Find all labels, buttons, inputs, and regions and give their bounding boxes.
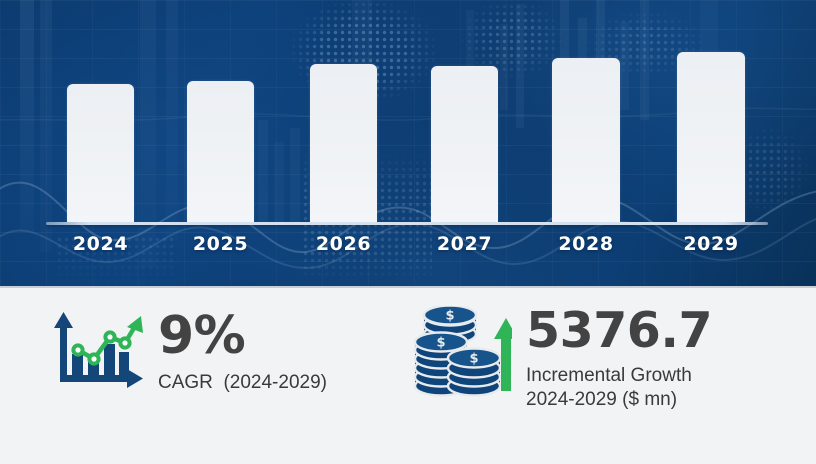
kpi-growth-text: 5376.7 Incremental Growth 2024-2029 ($ m… — [526, 306, 712, 413]
bar-chart-panel: 2024 2025 2026 2027 2028 2029 — [0, 0, 816, 286]
bar-2029 — [677, 52, 745, 222]
x-axis-label-2026: 2026 — [300, 233, 387, 255]
coin-stacks-icon: $ $ — [412, 306, 512, 403]
kpi-cagr-value: 9% — [158, 310, 327, 362]
kpi-growth-caption: Incremental Growth 2024-2029 ($ mn) — [526, 364, 712, 413]
bar-2026 — [310, 64, 377, 222]
bar-2027 — [431, 66, 498, 222]
bar-2025 — [187, 81, 254, 222]
kpi-cagr: 9% CAGR (2024-2029) — [48, 310, 327, 399]
kpi-cagr-caption-line-1: CAGR (2024-2029) — [158, 371, 327, 395]
x-axis-label-2028: 2028 — [542, 233, 630, 255]
kpi-panel: 9% CAGR (2024-2029) — [0, 286, 816, 464]
svg-text:$: $ — [436, 336, 445, 351]
axis-shadow — [46, 225, 768, 229]
kpi-incremental-growth: $ $ — [412, 306, 712, 413]
chart-axis-baseline — [46, 222, 768, 225]
kpi-cagr-text: 9% CAGR (2024-2029) — [158, 310, 327, 395]
kpi-growth-caption-line-2: 2024-2029 ($ mn) — [526, 388, 712, 412]
x-axis-label-2029: 2029 — [667, 233, 755, 255]
bar-2028 — [552, 58, 620, 222]
kpi-growth-value: 5376.7 — [526, 306, 712, 355]
svg-text:$: $ — [469, 352, 478, 367]
x-axis-label-2024: 2024 — [57, 233, 144, 255]
kpi-growth-caption-line-1: Incremental Growth — [526, 364, 712, 388]
growth-chart-icon — [48, 310, 144, 399]
market-growth-infographic: 2024 2025 2026 2027 2028 2029 — [0, 0, 816, 464]
x-axis-label-2027: 2027 — [421, 233, 508, 255]
svg-text:$: $ — [445, 309, 454, 324]
x-axis-label-2025: 2025 — [177, 233, 264, 255]
bar-2024 — [67, 84, 134, 222]
kpi-cagr-caption: CAGR (2024-2029) — [158, 371, 327, 395]
